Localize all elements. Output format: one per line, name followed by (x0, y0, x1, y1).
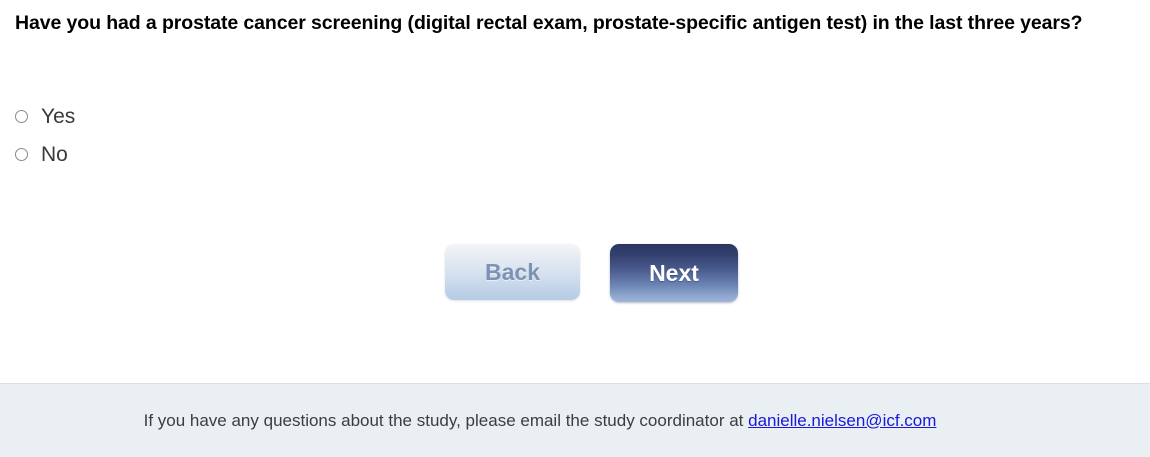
survey-page: Have you had a prostate cancer screening… (0, 0, 1150, 457)
page-footer: If you have any questions about the stud… (0, 383, 1150, 457)
coordinator-email-link[interactable]: danielle.nielsen@icf.com (748, 411, 936, 430)
footer-message-text: If you have any questions about the stud… (144, 411, 749, 430)
footer-message: If you have any questions about the stud… (144, 411, 1007, 431)
next-button[interactable]: Next (610, 244, 738, 302)
radio-circle-icon[interactable] (15, 110, 28, 123)
back-button[interactable]: Back (445, 244, 580, 300)
radio-option-yes[interactable]: Yes (15, 97, 75, 135)
radio-circle-icon[interactable] (15, 148, 28, 161)
radio-option-label-yes: Yes (41, 106, 75, 127)
survey-content: Have you had a prostate cancer screening… (0, 0, 1150, 383)
radio-group: Yes No (15, 97, 75, 173)
navigation-buttons: Back Next (0, 244, 1150, 306)
question-text: Have you had a prostate cancer screening… (15, 10, 1090, 38)
radio-option-no[interactable]: No (15, 135, 75, 173)
radio-option-label-no: No (41, 144, 68, 165)
